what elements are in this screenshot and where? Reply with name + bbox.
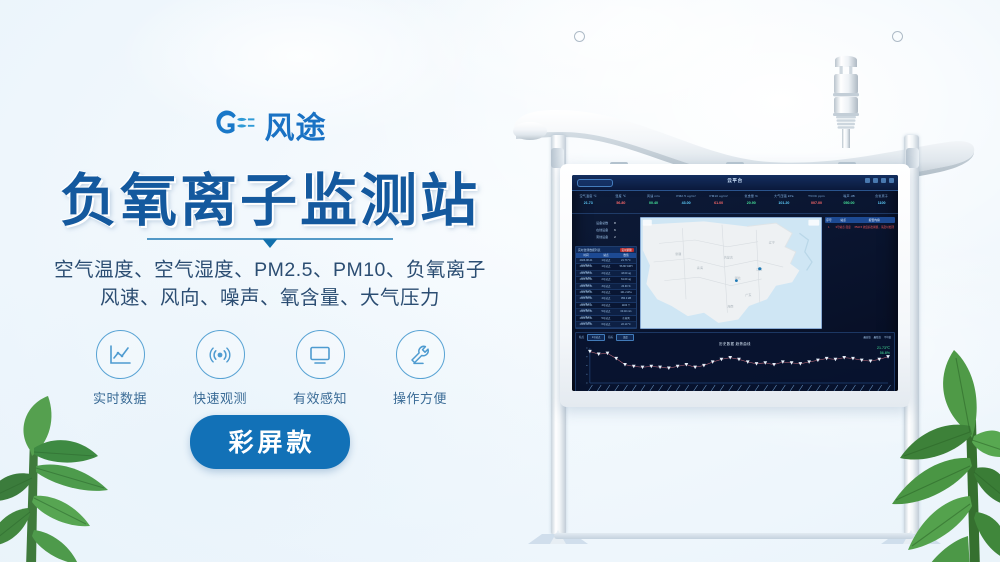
table-cell: 43.00 ug: [616, 271, 636, 276]
stat-value: 00.40: [637, 199, 670, 207]
station-select[interactable]: 1号站点: [587, 334, 605, 341]
dashboard: 云平台 空气温度 ℃ 21.73: [572, 175, 898, 391]
stat-value: 1100: [865, 199, 898, 207]
table-cell: 2号站点: [596, 277, 616, 282]
table-cell: 2023-08-21 11:27:11: [576, 328, 596, 329]
stat-value: 20.90: [735, 199, 768, 207]
table-cell: 5号站点: [596, 316, 616, 321]
hero-text-block: 风途 负氧离子监测站 空气温度、空气湿度、PM2.5、PM10、负氧离子 风速、…: [0, 0, 540, 562]
summary-key: 离线设备: [596, 234, 608, 241]
trend-line-chart: [576, 345, 894, 391]
table-cell: 2023-08-21 11:28:47: [576, 296, 596, 301]
feature-effective-sensing[interactable]: 有效感知: [288, 330, 352, 407]
alarm-panel: 序号 站点 报警内容 1 3号站点-温度 PM2.5 浓度超出阈值，请及时处理: [825, 217, 895, 329]
summary-value: 6: [614, 227, 616, 234]
table-cell: 2023-08-21 11:27:55: [576, 316, 596, 321]
table-cell: 2023-08-21 11:29:41: [576, 277, 596, 282]
header-icons[interactable]: [865, 178, 894, 183]
feature-label: 有效感知: [293, 388, 347, 407]
table-cell: 2023-08-21 11:29:20: [576, 284, 596, 289]
table-cell: 2号站点: [596, 271, 616, 276]
page-title: 负氧离子监测站: [0, 155, 540, 237]
mount-hook-left: [574, 31, 585, 42]
table-cell: 56.80 %RH: [616, 264, 636, 269]
alarm-header: 序号 站点 报警内容: [825, 217, 895, 223]
color-screen-model-button[interactable]: 彩屏款: [190, 415, 349, 469]
table-cell: 21.73 ℃: [616, 258, 636, 263]
table-cell: 3号站点: [596, 290, 616, 295]
stat-card: 氧含量 % 20.90: [735, 191, 768, 213]
display-frame: 云平台 空气温度 ℃ 21.73: [560, 164, 910, 407]
hero-subtitle: 空气温度、空气湿度、PM2.5、PM10、负氧离子 风速、风向、噪声、氧含量、大…: [0, 256, 540, 312]
table-cell: 58.30 %RH: [616, 328, 636, 329]
brand-logo: 风途: [0, 103, 540, 147]
left-panel: 设备总数 8 在线设备 6 离线设备 2: [575, 217, 637, 329]
line-chart-icon: [96, 330, 145, 379]
table-cell: 2023-08-21 11:30:12: [576, 258, 596, 263]
ground-rail: [554, 533, 914, 539]
title-divider: [0, 236, 540, 250]
feature-list: 实时数据 快速观测: [0, 330, 540, 407]
feature-label: 操作方便: [393, 388, 447, 407]
fengtu-leaf-g-logo-icon: [214, 108, 256, 142]
subtitle-line-2: 风速、风向、噪声、氧含量、大气压力: [0, 284, 540, 312]
summary-value: 2: [614, 234, 616, 241]
stat-value: 43.00: [670, 199, 703, 207]
table-cell: 22.10 ℃: [616, 322, 636, 327]
alarm-row[interactable]: 1 3号站点-温度 PM2.5 浓度超出阈值，请及时处理: [825, 225, 895, 231]
alarm-message: PM2.5 浓度超出阈值，请及时处理: [854, 225, 895, 231]
table-cell: 2023-08-21 11:27:33: [576, 322, 596, 327]
data-table[interactable]: 实时监测数据列表 实时刷新 时间 站点 数值 2023-08-21 11:30:…: [575, 246, 637, 329]
radar-signal-icon: [196, 330, 245, 379]
stat-card: 湿度 ℃ 56.80: [605, 191, 638, 213]
dashboard-title: 云平台: [572, 178, 898, 184]
dashboard-body: 设备总数 8 在线设备 6 离线设备 2: [572, 214, 898, 332]
wrench-icon: [396, 330, 445, 379]
summary-key: 设备总数: [596, 220, 608, 227]
svg-text:青海: 青海: [697, 265, 703, 270]
column-header: 站点: [833, 217, 854, 223]
table-cell: 1号站点: [596, 258, 616, 263]
stat-value: 050.00: [833, 199, 866, 207]
stat-card: 噪声 dB 050.00: [833, 191, 866, 213]
stat-card-row: 空气温度 ℃ 21.73 湿度 ℃ 56.80 风速 m/s 00.40 P: [572, 191, 898, 214]
lcd-screen[interactable]: 云平台 空气温度 ℃ 21.73: [572, 175, 898, 391]
table-cell: 5号站点: [596, 309, 616, 314]
china-region-map[interactable]: 新疆青海 内蒙古湖北 江苏广东 辽宁海南: [640, 217, 822, 329]
stat-card: 大气压强 kPa 101.20: [768, 191, 801, 213]
stat-card: 负氧离子 1100: [865, 191, 898, 213]
cta-area: 彩屏款: [0, 415, 540, 469]
stat-card: 空气温度 ℃ 21.73: [572, 191, 605, 213]
table-cell: 1100 个: [616, 303, 636, 308]
monitor-screen-icon: [296, 330, 345, 379]
subtitle-line-1: 空气温度、空气湿度、PM2.5、PM10、负氧离子: [0, 256, 540, 284]
summary-block: 设备总数 8 在线设备 6 离线设备 2: [575, 217, 637, 244]
summary-value: 8: [614, 220, 616, 227]
table-cell: 4号站点: [596, 296, 616, 301]
feature-label: 实时数据: [93, 388, 147, 407]
stat-card: PM10 ug/m³ 61.00: [702, 191, 735, 213]
mount-hook-right: [892, 31, 903, 42]
stat-value: 007.00: [800, 199, 833, 207]
table-cell: 61.00 ug: [616, 277, 636, 282]
list-icon[interactable]: [881, 178, 886, 183]
stat-card: PM2.5 ug/m³ 43.00: [670, 191, 703, 213]
trend-chart-panel: 站点 1号站点 指标 温度 最高值 最低值 平均值 历史数据 趋势曲线: [575, 332, 895, 391]
svg-text:内蒙古: 内蒙古: [724, 255, 733, 260]
summary-key: 在线设备: [596, 227, 608, 234]
svg-text:海南: 海南: [727, 304, 733, 309]
table-cell: 050.0 dB: [616, 296, 636, 301]
svg-text:湖北: 湖北: [735, 275, 741, 280]
table-cell: 20.90 %: [616, 284, 636, 289]
table-title: 实时监测数据列表: [578, 248, 600, 252]
feature-realtime-data[interactable]: 实时数据: [88, 330, 152, 407]
control-label: 站点: [579, 335, 584, 339]
feature-fast-observation[interactable]: 快速观测: [188, 330, 252, 407]
legend-item: 最低值: [874, 335, 881, 339]
dashboard-header: 云平台: [572, 175, 898, 191]
column-header: 报警内容: [854, 217, 895, 223]
table-body: 2023-08-21 11:30:121号站点21.73 ℃2023-08-21…: [576, 258, 636, 329]
stat-card: TVOC ppm 007.00: [800, 191, 833, 213]
column-header: 序号: [825, 217, 833, 223]
stat-value: 21.73: [572, 199, 605, 207]
table-cell: 4号站点: [596, 303, 616, 308]
alarm-station: 3号站点-温度: [833, 225, 854, 231]
table-row[interactable]: 2023-08-21 11:27:116号站点58.30 %RH: [576, 328, 636, 329]
chart-icon[interactable]: [873, 178, 878, 183]
table-cell: 101.2 kPa: [616, 290, 636, 295]
control-label: 指标: [608, 335, 613, 339]
table-cell: 2023-08-21 11:29:02: [576, 290, 596, 295]
brand-name: 风途: [265, 103, 327, 147]
legend-item: 最高值: [863, 335, 870, 339]
gear-icon[interactable]: [889, 178, 894, 183]
feature-easy-operation[interactable]: 操作方便: [388, 330, 452, 407]
metric-select[interactable]: 温度: [616, 334, 634, 341]
svg-text:广东: 广东: [745, 292, 751, 297]
table-cell: 6号站点: [596, 322, 616, 327]
table-cell: 2023-08-21 11:29:58: [576, 271, 596, 276]
stat-value: 56.80: [605, 199, 638, 207]
stat-card: 风速 m/s 00.40: [637, 191, 670, 213]
summary-item: 离线设备 2: [575, 234, 637, 241]
table-cell: 东南风: [616, 316, 636, 321]
screen-bracket-right: [906, 148, 919, 168]
alarm-index: 1: [825, 225, 833, 231]
chart-legend: 最高值 最低值 平均值: [863, 335, 891, 339]
table-cell: 00.40 m/s: [616, 309, 636, 314]
feature-label: 快速观测: [193, 388, 247, 407]
legend-item: 平均值: [884, 335, 891, 339]
marketing-banner: 风途 负氧离子监测站 空气温度、空气湿度、PM2.5、PM10、负氧离子 风速、…: [0, 0, 1000, 562]
stat-value: 101.20: [768, 199, 801, 207]
table-cell: 2023-08-21 11:30:12: [576, 264, 596, 269]
grid-icon[interactable]: [865, 178, 870, 183]
summary-item: 在线设备 6: [575, 227, 637, 234]
svg-text:辽宁: 辽宁: [769, 240, 775, 245]
monitoring-station-kiosk: 云平台 空气温度 ℃ 21.73: [508, 40, 978, 540]
svg-text:新疆: 新疆: [675, 251, 681, 256]
table-cell: 3号站点: [596, 284, 616, 289]
table-cell: 1号站点: [596, 264, 616, 269]
table-cell: 2023-08-21 11:28:31: [576, 303, 596, 308]
chart-controls: 站点 1号站点 指标 温度 最高值 最低值 平均值: [576, 333, 894, 341]
summary-item: 设备总数 8: [575, 220, 637, 227]
refresh-badge[interactable]: 实时刷新: [620, 248, 634, 252]
table-cell: 6号站点: [596, 328, 616, 329]
stat-value: 61.00: [702, 199, 735, 207]
table-cell: 2023-08-21 11:28:10: [576, 309, 596, 314]
